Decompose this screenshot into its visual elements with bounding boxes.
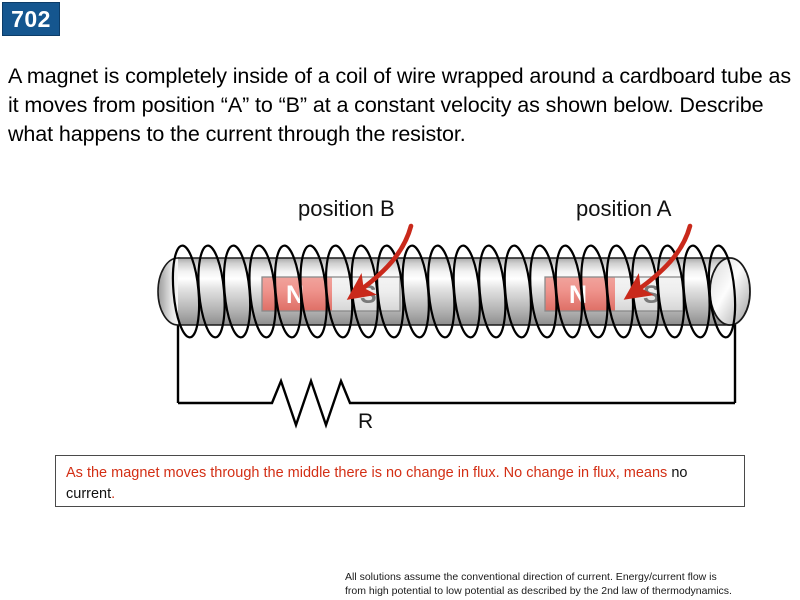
answer-text: As the magnet moves through the middle t… (66, 463, 734, 505)
resistor-symbol (262, 381, 355, 425)
slide-number-badge: 702 (2, 2, 60, 36)
label-position-b: position B (298, 196, 395, 222)
slide-canvas: 702 A magnet is completely inside of a c… (0, 0, 800, 600)
diagram-svg: R N S (0, 180, 800, 450)
answer-part-3: . (111, 486, 115, 502)
question-text: A magnet is completely inside of a coil … (8, 62, 792, 149)
resistor-label: R (358, 410, 373, 433)
footer-line-1: All solutions assume the conventional di… (345, 570, 795, 584)
solenoid-diagram: position B position A (0, 180, 800, 450)
footer-line-2: from high potential to low potential as … (345, 584, 795, 598)
answer-box: As the magnet moves through the middle t… (55, 455, 745, 507)
answer-part-1: As the magnet moves through the middle t… (66, 465, 671, 481)
footer-note: All solutions assume the conventional di… (345, 570, 795, 598)
label-position-a: position A (576, 196, 671, 222)
magnet-position-a: N S (545, 277, 683, 311)
